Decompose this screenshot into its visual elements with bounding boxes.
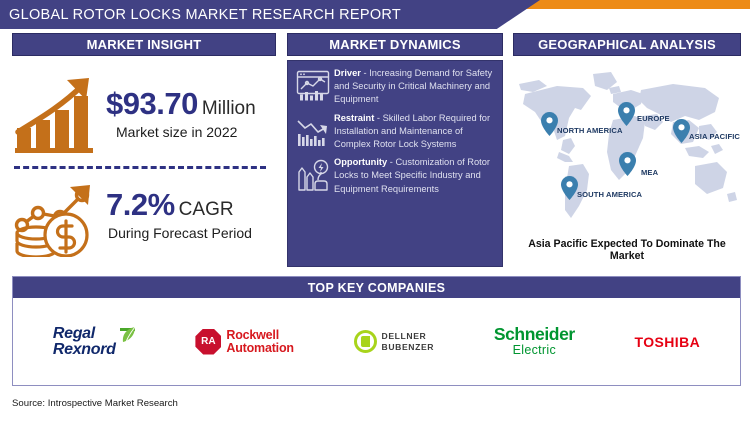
dynamics-item-restraint-label: Restraint [334,113,374,123]
header-band: GLOBAL ROTOR LOCKS MARKET RESEARCH REPOR… [0,0,540,29]
dynamics-item-opportunity-label: Opportunity [334,157,387,167]
map-pin-north-america[interactable] [541,112,558,141]
market-size-value-row: $93.70Million [106,88,276,121]
cagr-value-row: 7.2%CAGR [106,189,276,222]
dynamics-item-opportunity: Opportunity - Customization of Rotor Loc… [292,156,497,196]
map-label-asia-pacific: ASIA PACIFIC [689,132,740,141]
company-logo-dellner-bubenzer[interactable]: DELLNER BUBENZER [354,330,435,353]
map-label-europe: EUROPE [637,114,670,123]
dellner-line2: BUBENZER [382,342,435,352]
bar-chart-growth-icon [12,74,104,154]
cagr-value: 7.2% [106,189,175,222]
company-logo-toshiba[interactable]: TOSHIBA [635,334,701,350]
map-label-mea: MEA [641,168,658,177]
geographical-analysis-panel: NORTH AMERICA EUROPE ASIA PACIFIC MEA SO… [513,60,741,267]
idea-growth-hand-icon [292,156,334,191]
map-pin-asia-pacific[interactable] [673,119,690,148]
toshiba-wordmark: TOSHIBA [635,334,701,350]
company-logo-strip: Regal Rexnord RA R [13,298,740,385]
market-dynamics-panel: Driver - Increasing Demand for Safety an… [287,60,503,267]
cagr-unit: CAGR [175,199,234,221]
report-header: GLOBAL ROTOR LOCKS MARKET RESEARCH REPOR… [0,0,750,30]
top-key-companies-panel: TOP KEY COMPANIES Regal Rexnord [12,276,741,386]
rockwell-line2: Automation [226,342,293,355]
market-size-value: $93.70 [106,88,198,121]
regal-line1: Regal [53,326,116,342]
regal-line2: Rexnord [53,342,116,358]
map-pin-south-america[interactable] [561,176,578,205]
page-title: GLOBAL ROTOR LOCKS MARKET RESEARCH REPOR… [0,7,401,23]
market-insight-panel: $93.70Million Market size in 2022 [12,62,276,266]
geographical-analysis-caption: Asia Pacific Expected To Dominate The Ma… [513,238,741,262]
dynamics-item-opportunity-text: Opportunity - Customization of Rotor Loc… [334,156,497,196]
insight-divider [14,166,266,169]
world-map: NORTH AMERICA EUROPE ASIA PACIFIC MEA SO… [513,66,741,231]
cagr-block: 7.2%CAGR During Forecast Period [12,172,276,258]
companies-heading-label: TOP KEY COMPANIES [308,281,446,295]
declining-bar-chart-icon [292,112,334,147]
company-logo-rockwell-automation[interactable]: RA Rockwell Automation [195,329,293,355]
dellner-circle-icon [354,330,377,353]
company-logo-regal-rexnord[interactable]: Regal Rexnord [53,326,136,357]
section-heading-market-dynamics-label: MARKET DYNAMICS [329,37,461,52]
schneider-line2: Electric [494,343,575,357]
dynamics-item-driver: Driver - Increasing Demand for Safety an… [292,67,497,107]
map-label-north-america: NORTH AMERICA [557,126,623,135]
infographic-page: GLOBAL ROTOR LOCKS MARKET RESEARCH REPOR… [0,0,750,422]
section-heading-market-insight: MARKET INSIGHT [12,33,276,56]
coins-growth-icon [12,173,104,257]
section-heading-geographical-analysis-label: GEOGRAPHICAL ANALYSIS [538,37,716,52]
section-heading-market-insight-label: MARKET INSIGHT [87,37,202,52]
rockwell-line1: Rockwell [226,329,293,342]
regal-leaf-icon [119,326,136,348]
section-heading-market-dynamics: MARKET DYNAMICS [287,33,503,56]
dynamics-item-restraint-text: Restraint - Skilled Labor Required for I… [334,112,497,152]
company-logo-schneider-electric[interactable]: Schneider Electric [494,326,575,358]
map-label-south-america: SOUTH AMERICA [577,190,642,199]
market-size-unit: Million [198,98,256,120]
source-note: Source: Introspective Market Research [12,398,178,409]
dynamics-item-driver-text: Driver - Increasing Demand for Safety an… [334,67,497,107]
dashboard-chart-icon [292,67,334,102]
dellner-line1: DELLNER [382,331,435,341]
section-heading-geographical-analysis: GEOGRAPHICAL ANALYSIS [513,33,741,56]
market-size-caption: Market size in 2022 [106,121,276,140]
market-size-text: $93.70Million Market size in 2022 [104,88,276,140]
cagr-caption: During Forecast Period [106,222,276,241]
dynamics-item-driver-label: Driver [334,68,361,78]
market-size-block: $93.70Million Market size in 2022 [12,70,276,158]
cagr-text: 7.2%CAGR During Forecast Period [104,189,276,241]
map-pin-mea[interactable] [619,152,636,181]
companies-heading: TOP KEY COMPANIES [13,277,740,298]
schneider-line1: Schneider [494,326,575,344]
header-accent-bar [520,0,750,9]
rockwell-badge-icon: RA [195,329,221,355]
dynamics-item-restraint: Restraint - Skilled Labor Required for I… [292,112,497,152]
